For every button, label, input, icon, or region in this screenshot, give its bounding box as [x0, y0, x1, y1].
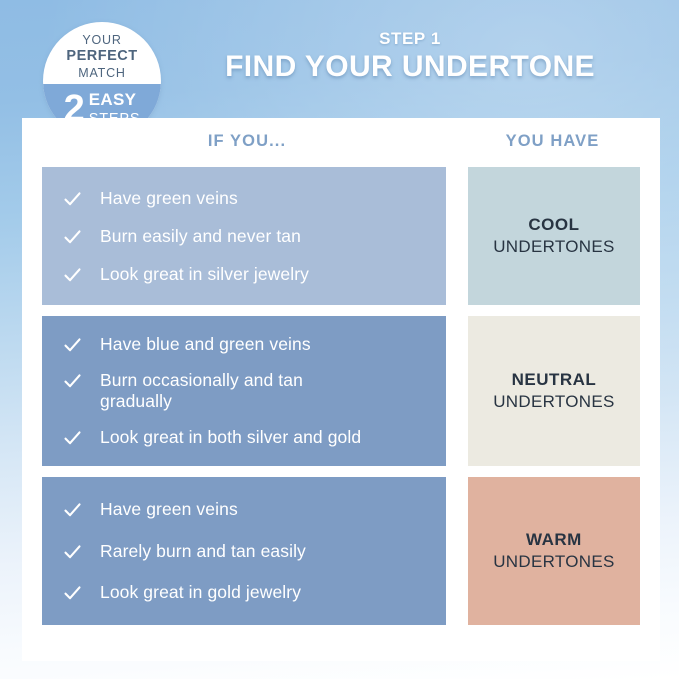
list-item: Look great in gold jewelry — [64, 582, 428, 603]
list-item: Look great in silver jewelry — [64, 264, 428, 285]
check-icon — [64, 191, 81, 208]
swatch-subtitle: UNDERTONES — [493, 551, 614, 573]
badge-line-your: YOUR — [43, 33, 161, 48]
undertone-swatch: COOL UNDERTONES — [468, 167, 640, 305]
criteria-panel: Have blue and green veins Burn occasiona… — [42, 316, 446, 466]
swatch-label: NEUTRAL UNDERTONES — [493, 369, 614, 413]
swatch-name: COOL — [493, 214, 614, 236]
list-item: Burn easily and never tan — [64, 226, 428, 247]
list-item: Look great in both silver and gold — [64, 427, 428, 448]
list-item: Have blue and green veins — [64, 334, 428, 355]
infographic-canvas: STEP 1 FIND YOUR UNDERTONE YOUR PERFECT … — [0, 0, 679, 679]
list-item: Burn occasionally and tan gradually — [64, 370, 428, 411]
criteria-text: Have green veins — [100, 188, 238, 209]
check-icon — [64, 430, 81, 447]
header: STEP 1 FIND YOUR UNDERTONE YOUR PERFECT … — [0, 0, 679, 118]
undertone-table: Have green veins Burn easily and never t… — [22, 167, 660, 636]
check-icon — [64, 373, 81, 390]
swatch-name: NEUTRAL — [493, 369, 614, 391]
title-block: STEP 1 FIND YOUR UNDERTONE — [186, 28, 634, 85]
check-icon — [64, 544, 81, 561]
undertone-swatch: NEUTRAL UNDERTONES — [468, 316, 640, 466]
step-label: STEP 1 — [186, 28, 634, 49]
page-title: FIND YOUR UNDERTONE — [186, 50, 634, 85]
list-item: Have green veins — [64, 499, 428, 520]
check-icon — [64, 337, 81, 354]
check-icon — [64, 502, 81, 519]
criteria-text: Look great in gold jewelry — [100, 582, 301, 603]
swatch-subtitle: UNDERTONES — [493, 236, 614, 258]
criteria-text: Have blue and green veins — [100, 334, 311, 355]
column-header-you-have: YOU HAVE — [465, 132, 640, 151]
column-headers: IF YOU... YOU HAVE — [22, 132, 660, 172]
check-icon — [64, 267, 81, 284]
check-icon — [64, 229, 81, 246]
check-icon — [64, 585, 81, 602]
swatch-label: WARM UNDERTONES — [493, 529, 614, 573]
criteria-panel: Have green veins Burn easily and never t… — [42, 167, 446, 305]
criteria-text: Burn easily and never tan — [100, 226, 301, 247]
criteria-text: Look great in both silver and gold — [100, 427, 361, 448]
badge-label-easy: EASY — [89, 90, 137, 109]
criteria-text: Look great in silver jewelry — [100, 264, 309, 285]
swatch-subtitle: UNDERTONES — [493, 391, 614, 413]
badge-top-section: YOUR PERFECT MATCH — [43, 22, 161, 84]
table-row: Have green veins Burn easily and never t… — [22, 167, 660, 305]
column-header-if-you: IF YOU... — [42, 132, 452, 151]
content-card: IF YOU... YOU HAVE Have green veins — [22, 118, 660, 661]
table-row: Have green veins Rarely burn and tan eas… — [22, 477, 660, 625]
badge-line-match: MATCH — [43, 66, 161, 81]
list-item: Have green veins — [64, 188, 428, 209]
table-row: Have blue and green veins Burn occasiona… — [22, 316, 660, 466]
swatch-name: WARM — [493, 529, 614, 551]
criteria-text: Rarely burn and tan easily — [100, 541, 306, 562]
list-item: Rarely burn and tan easily — [64, 541, 428, 562]
badge-line-perfect: PERFECT — [43, 48, 161, 66]
swatch-label: COOL UNDERTONES — [493, 214, 614, 258]
criteria-text: Have green veins — [100, 499, 238, 520]
undertone-swatch: WARM UNDERTONES — [468, 477, 640, 625]
criteria-panel: Have green veins Rarely burn and tan eas… — [42, 477, 446, 625]
criteria-text: Burn occasionally and tan gradually — [100, 370, 350, 411]
